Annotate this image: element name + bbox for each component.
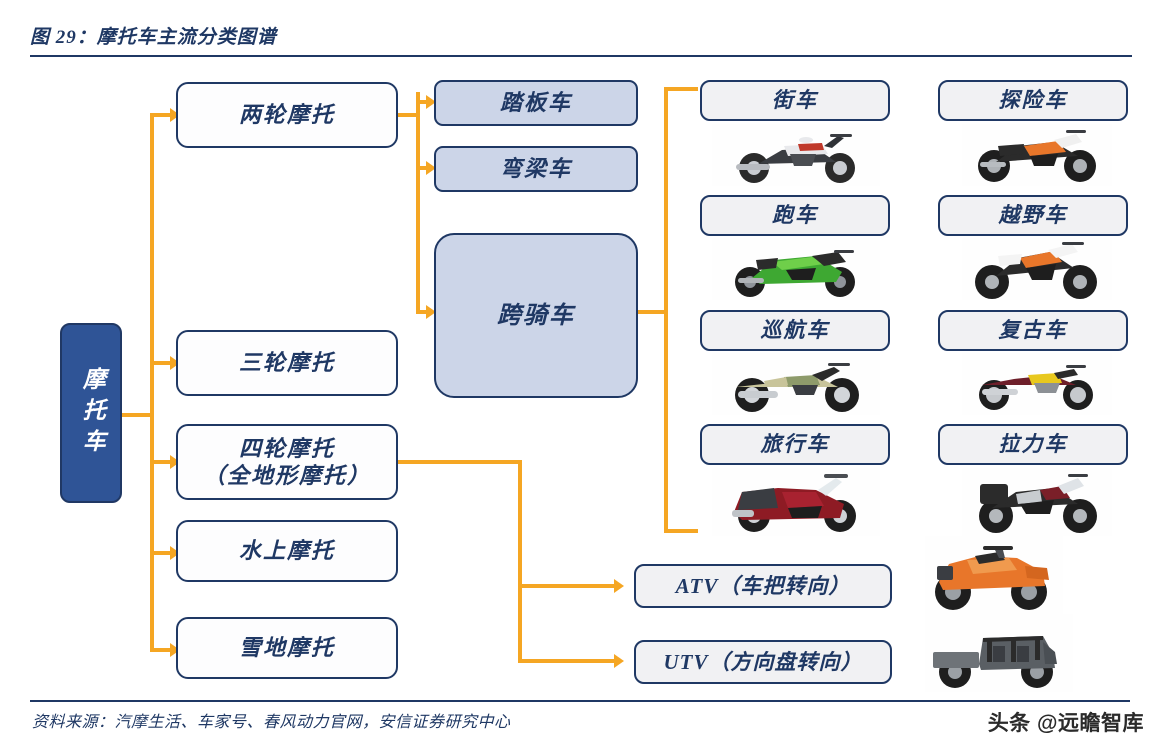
node-root-motorcycle[interactable]: 摩托车 xyxy=(60,323,122,503)
node-offroad[interactable]: 越野车 xyxy=(938,195,1128,236)
connector-to-utv xyxy=(518,659,618,663)
node-sport[interactable]: 跑车 xyxy=(700,195,890,236)
retro-motorcycle-photo xyxy=(962,353,1112,415)
node-touring[interactable]: 旅行车 xyxy=(700,424,890,465)
footer-divider xyxy=(30,700,1130,702)
node-rally-label: 拉力车 xyxy=(999,431,1068,457)
node-touring-label: 旅行车 xyxy=(761,431,830,457)
connector-atvutv-spine xyxy=(518,460,522,662)
node-four-wheel-label-line2: （全地形摩托） xyxy=(203,462,371,490)
header-divider xyxy=(30,55,1132,57)
node-offroad-label: 越野车 xyxy=(999,202,1068,228)
node-root-label: 摩托车 xyxy=(77,367,106,460)
node-atv[interactable]: ATV（车把转向） xyxy=(634,564,892,608)
node-rally[interactable]: 拉力车 xyxy=(938,424,1128,465)
connector-four-wheel-out xyxy=(398,460,522,464)
node-cruiser-label: 巡航车 xyxy=(761,317,830,343)
atv-quad-photo xyxy=(925,536,1063,614)
node-cruiser[interactable]: 巡航车 xyxy=(700,310,890,351)
adventure-motorcycle-photo xyxy=(962,124,1112,186)
cruiser-motorcycle-photo xyxy=(712,353,880,415)
node-four-wheel[interactable]: 四轮摩托 （全地形摩托） xyxy=(176,424,398,500)
node-sport-label: 跑车 xyxy=(772,202,818,228)
offroad-motorcycle-photo xyxy=(962,238,1112,300)
node-adventure[interactable]: 探险车 xyxy=(938,80,1128,121)
node-two-wheel[interactable]: 两轮摩托 xyxy=(176,82,398,148)
node-utv-label: UTV（方向盘转向） xyxy=(664,649,863,675)
node-two-wheel-label: 两轮摩托 xyxy=(239,101,335,129)
node-straddle-label: 跨骑车 xyxy=(497,301,575,331)
node-atv-label: ATV（车把转向） xyxy=(676,573,851,599)
node-street[interactable]: 街车 xyxy=(700,80,890,121)
node-water-label: 水上摩托 xyxy=(239,537,335,565)
connector-two-wheel-spine xyxy=(416,92,420,314)
node-scooter[interactable]: 踏板车 xyxy=(434,80,638,126)
utv-sidebyside-photo xyxy=(925,614,1073,692)
node-adventure-label: 探险车 xyxy=(999,87,1068,113)
connector-straddle-brace xyxy=(664,87,668,533)
node-snow-label: 雪地摩托 xyxy=(239,634,335,662)
touring-motorcycle-photo xyxy=(712,468,880,536)
node-water-motorcycle[interactable]: 水上摩托 xyxy=(176,520,398,582)
node-snow-motorcycle[interactable]: 雪地摩托 xyxy=(176,617,398,679)
node-three-wheel-label: 三轮摩托 xyxy=(239,349,335,377)
node-three-wheel[interactable]: 三轮摩托 xyxy=(176,330,398,396)
page-title: 图 29：摩托车主流分类图谱 xyxy=(30,22,277,49)
connector-to-atv xyxy=(518,584,618,588)
node-retro-label: 复古车 xyxy=(999,317,1068,343)
connector-brace-top-hook xyxy=(664,87,698,91)
rally-motorcycle-photo xyxy=(962,468,1112,536)
node-street-label: 街车 xyxy=(772,87,818,113)
arrowhead-utv xyxy=(614,654,624,668)
sport-motorcycle-photo xyxy=(712,238,880,300)
node-underbone-label: 弯梁车 xyxy=(500,155,572,183)
watermark-label: 头条 @远瞻智库 xyxy=(988,707,1144,737)
node-underbone[interactable]: 弯梁车 xyxy=(434,146,638,192)
node-four-wheel-label-line1: 四轮摩托 xyxy=(239,435,335,463)
node-straddle[interactable]: 跨骑车 xyxy=(434,233,638,398)
node-scooter-label: 踏板车 xyxy=(500,89,572,117)
connector-brace-bottom-hook xyxy=(664,529,698,533)
street-motorcycle-photo xyxy=(712,124,880,186)
node-utv[interactable]: UTV（方向盘转向） xyxy=(634,640,892,684)
node-retro[interactable]: 复古车 xyxy=(938,310,1128,351)
source-note: 资料来源：汽摩生活、车家号、春风动力官网，安信证券研究中心 xyxy=(32,708,511,732)
connector-root-spine xyxy=(150,115,154,650)
arrowhead-atv xyxy=(614,579,624,593)
